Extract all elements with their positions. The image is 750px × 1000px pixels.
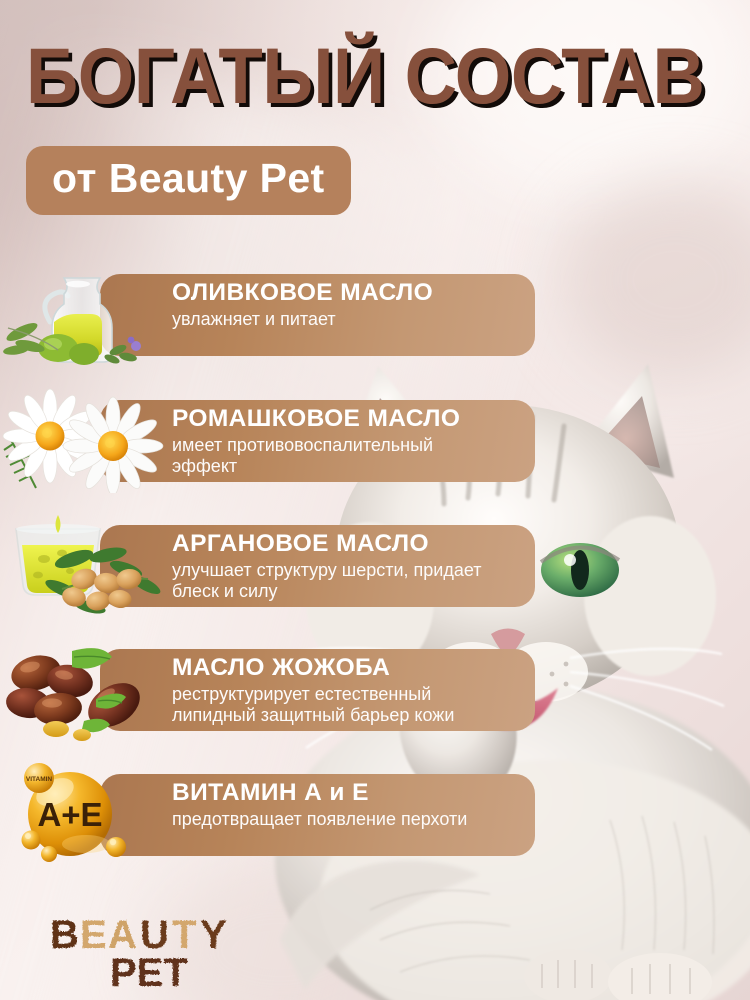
ingredient-title: АРГАНОВОЕ МАСЛО xyxy=(172,531,502,556)
ingredient-row-vitamin-ae[interactable]: A+E VITAMIN ВИТАМИН А и Е предотвращает … xyxy=(0,762,545,867)
chamomile-flowers-icon xyxy=(0,388,170,493)
ingredient-row-olive-oil[interactable]: ОЛИВКОВОЕ МАСЛО увлажняет и питает xyxy=(0,262,545,367)
background-blob xyxy=(560,180,750,380)
ingredient-subtitle: реструктурирует естественный липидный за… xyxy=(172,684,502,724)
ingredient-row-jojoba-oil[interactable]: МАСЛО ЖОЖОБА реструктурирует естественны… xyxy=(0,637,545,742)
page-title: БОГАТЫЙ СОСТАВ xyxy=(26,38,670,115)
ingredient-title: ОЛИВКОВОЕ МАСЛО xyxy=(172,280,502,305)
ingredient-subtitle: увлажняет и питает xyxy=(172,309,502,329)
ingredient-subtitle: предотвращает появление перхоти xyxy=(172,809,502,829)
ingredient-subtitle: имеет противовоспалительный эффект xyxy=(172,435,502,475)
ingredient-subtitle: улучшает структуру шерсти, придает блеск… xyxy=(172,560,502,600)
footer-logo: B E A U T Y PET BEAUTY xyxy=(48,912,298,992)
logo-letter-e: E xyxy=(80,913,107,957)
brand-badge: от Beauty Pet xyxy=(26,146,351,215)
svg-text:A+E: A+E xyxy=(37,796,102,833)
olive-oil-bottle-icon xyxy=(0,262,170,367)
argan-nuts-bowl-icon xyxy=(0,513,170,618)
jojoba-seeds-icon xyxy=(0,637,170,742)
vitamin-capsule-icon: A+E VITAMIN xyxy=(0,762,170,867)
poster-canvas: БОГАТЫЙ СОСТАВ от Beauty Pet xyxy=(0,0,750,1000)
ingredient-row-chamomile-oil[interactable]: РОМАШКОВОЕ МАСЛО имеет противовоспалител… xyxy=(0,388,545,493)
logo-letter-b: B xyxy=(50,913,79,957)
ingredient-title: МАСЛО ЖОЖОБА xyxy=(172,655,502,680)
ingredient-title: РОМАШКОВОЕ МАСЛО xyxy=(172,406,502,431)
ingredient-row-argan-oil[interactable]: АРГАНОВОЕ МАСЛО улучшает структуру шерст… xyxy=(0,513,545,618)
logo-line2: PET xyxy=(110,951,188,992)
ingredient-title: ВИТАМИН А и Е xyxy=(172,780,502,805)
svg-text:VITAMIN: VITAMIN xyxy=(26,776,53,783)
logo-letter-y: Y xyxy=(200,913,227,957)
